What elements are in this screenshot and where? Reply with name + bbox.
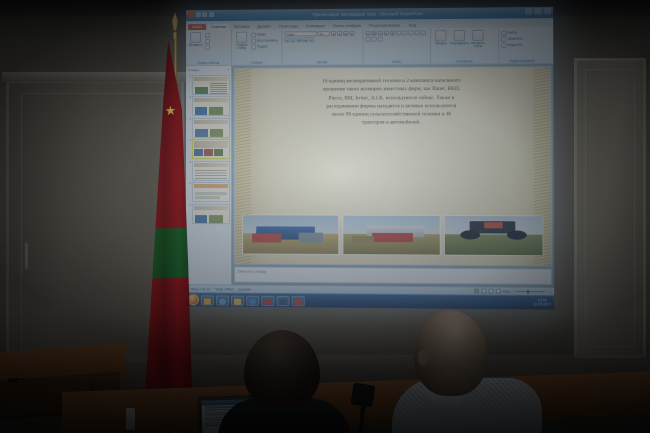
fit-to-window-button[interactable]: ⛶ — [550, 290, 552, 294]
replace-icon — [501, 37, 506, 42]
layout-icon — [251, 33, 256, 38]
section-button[interactable]: Раздел — [251, 45, 278, 50]
conference-room-scene: Презентация Экспедиция Агро - Microsoft … — [0, 0, 650, 433]
word-taskbar-button[interactable] — [276, 295, 289, 305]
view-reading-button[interactable] — [488, 289, 493, 294]
window-title: Презентация Экспедиция Агро - Microsoft … — [313, 11, 423, 17]
slide-editing-area[interactable]: 16 единиц мелиоративной техники и 2 комп… — [232, 64, 554, 287]
numbering-button[interactable]: ≔ — [372, 31, 377, 36]
system-tray[interactable]: 13:29 31.05.2017 — [533, 299, 552, 306]
flag-star-icon: ★ — [164, 104, 178, 118]
strikethrough-button[interactable]: AB — [296, 37, 301, 42]
left-door-handle — [25, 243, 28, 269]
flag-cloth — [136, 40, 198, 422]
arrange-button[interactable]: Упорядочить — [452, 30, 468, 45]
columns-button[interactable] — [421, 30, 426, 35]
tractor-photo[interactable] — [444, 215, 544, 256]
group-label-drawing: Рисование — [431, 60, 498, 64]
replace-label: Заменить — [507, 38, 522, 41]
powerpoint-window: Презентация Экспедиция Агро - Microsoft … — [186, 7, 554, 310]
reset-icon — [251, 39, 256, 44]
reset-label: Восстановить — [257, 39, 278, 42]
right-door-panel — [585, 69, 635, 347]
font-name-box[interactable]: Calibri — [284, 31, 316, 36]
bold-button[interactable]: Ж — [343, 31, 348, 36]
group-label-font: Шрифт — [282, 61, 362, 65]
opera-taskbar-button[interactable] — [261, 295, 274, 305]
clock-date: 31.05.2017 — [533, 303, 551, 307]
view-slide-sorter-button[interactable] — [481, 289, 486, 294]
projection-screen: Презентация Экспедиция Агро - Microsoft … — [186, 7, 554, 310]
transnistria-flag: ★ — [130, 8, 210, 428]
zoom-in-button[interactable]: + — [545, 290, 547, 294]
person-right-ear — [418, 350, 429, 366]
find-button[interactable]: Найти — [501, 31, 523, 36]
quick-styles-label: Экспресс-стили — [470, 42, 486, 49]
notes-pane[interactable]: Заметки к слайду — [234, 266, 552, 285]
new-slide-button[interactable]: Создать слайд — [234, 32, 249, 51]
ribbon-group-editing: Найти Заменить Выделить Р — [499, 27, 545, 63]
new-slide-label: Создать слайд — [234, 43, 249, 50]
decrease-font-button[interactable]: a — [337, 31, 342, 36]
align-center-button[interactable] — [402, 30, 407, 35]
taskbar-clock[interactable]: 13:29 31.05.2017 — [533, 299, 551, 306]
close-pane-icon[interactable]: × — [227, 68, 229, 72]
water-bottle — [126, 408, 135, 430]
media-taskbar-button[interactable] — [246, 295, 259, 305]
ribbon[interactable]: Вставить — [186, 27, 553, 66]
line-spacing-button[interactable]: ¶ — [390, 31, 395, 36]
align-text-button[interactable] — [372, 37, 377, 42]
shapes-label: Фигуры — [435, 42, 446, 46]
layout-label: Макет — [257, 33, 266, 36]
harvester-red-photo[interactable] — [342, 215, 440, 256]
theme-name[interactable]: "Тема Office" — [214, 287, 234, 291]
find-label: Найти — [507, 32, 516, 35]
select-label: Выделить — [507, 44, 522, 47]
window-controls[interactable] — [525, 8, 551, 14]
increase-indent-button[interactable]: ⇤ — [384, 31, 389, 36]
group-label-editing: Редактирование — [499, 60, 545, 64]
zoom-slider-track[interactable] — [515, 291, 544, 292]
slide-body-textbox[interactable]: 16 единиц мелиоративной техники и 2 комп… — [249, 76, 536, 127]
zoom-out-button[interactable]: − — [512, 289, 514, 293]
harvester-blue-photo[interactable] — [242, 214, 339, 255]
quick-styles-button[interactable]: Экспресс-стили — [470, 30, 486, 49]
shapes-button[interactable]: Фигуры — [433, 30, 448, 45]
zoom-level-label: 63% — [503, 289, 510, 293]
increase-font-button[interactable]: A — [331, 31, 336, 36]
convert-smartart-button[interactable] — [378, 37, 383, 42]
editor-body: Слайды × 1 2 — [186, 64, 554, 287]
ribbon-group-drawing: Фигуры Упорядочить Экспресс-стили Рисова… — [431, 28, 499, 64]
slide-image-row — [242, 214, 543, 256]
ribbon-group-paragraph: ≡ ≔ ⇥ ⇤ ¶ — [363, 28, 431, 64]
browser-taskbar-button[interactable] — [216, 295, 229, 305]
font-size-box[interactable]: 18 — [318, 31, 330, 36]
group-label-paragraph: Абзац — [364, 60, 431, 64]
replace-button[interactable]: Заменить — [501, 37, 523, 42]
flag-finial-icon — [168, 12, 182, 42]
right-door — [574, 58, 646, 358]
justify-button[interactable] — [415, 30, 420, 35]
zoom-slider-knob[interactable] — [527, 289, 529, 293]
powerpoint-taskbar-button[interactable] — [292, 296, 305, 306]
maximize-button[interactable] — [534, 8, 541, 14]
section-icon — [251, 45, 256, 50]
view-slideshow-button[interactable] — [496, 289, 501, 294]
align-left-button[interactable] — [396, 31, 401, 36]
current-slide[interactable]: 16 единиц мелиоративной техники и 2 комп… — [234, 66, 552, 266]
underline-button[interactable]: Ч — [284, 37, 289, 42]
quick-styles-icon — [472, 30, 483, 41]
find-icon — [501, 31, 506, 36]
view-normal-button[interactable] — [474, 288, 479, 293]
text-direction-button[interactable] — [366, 37, 371, 42]
new-slide-icon — [236, 32, 247, 43]
shapes-icon — [435, 30, 446, 41]
ribbon-group-slides: Создать слайд Макет Восстановить — [232, 29, 282, 64]
ribbon-group-font: Calibri 18 A a Ж К Ч S AB Aa A — [282, 29, 363, 65]
group-label-slides: Слайды — [232, 61, 281, 64]
language-indicator[interactable]: русский — [238, 287, 250, 291]
reset-button[interactable]: Восстановить — [251, 38, 278, 43]
decrease-indent-button[interactable]: ⇥ — [378, 31, 383, 36]
section-label: Раздел — [257, 45, 268, 48]
select-icon — [501, 43, 506, 48]
folder-taskbar-button[interactable] — [231, 295, 244, 305]
close-button[interactable] — [544, 8, 551, 14]
zoom-slider[interactable]: − + — [512, 289, 547, 294]
arrange-label: Упорядочить — [450, 42, 470, 46]
slide-line-6: тракторов и автомобилей. — [249, 118, 536, 127]
status-bar-right[interactable]: 63% − + ⛶ — [474, 288, 552, 294]
italic-button[interactable]: К — [349, 31, 354, 36]
align-right-button[interactable] — [408, 30, 413, 35]
minimize-button[interactable] — [525, 8, 532, 14]
layout-button[interactable]: Макет — [251, 32, 278, 37]
bullets-button[interactable]: ≡ — [366, 31, 371, 36]
change-case-button[interactable]: Aa — [303, 37, 308, 42]
shadow-button[interactable]: S — [290, 37, 295, 42]
font-color-button[interactable]: A — [309, 37, 314, 42]
select-button[interactable]: Выделить — [501, 43, 523, 48]
arrange-icon — [454, 30, 465, 41]
